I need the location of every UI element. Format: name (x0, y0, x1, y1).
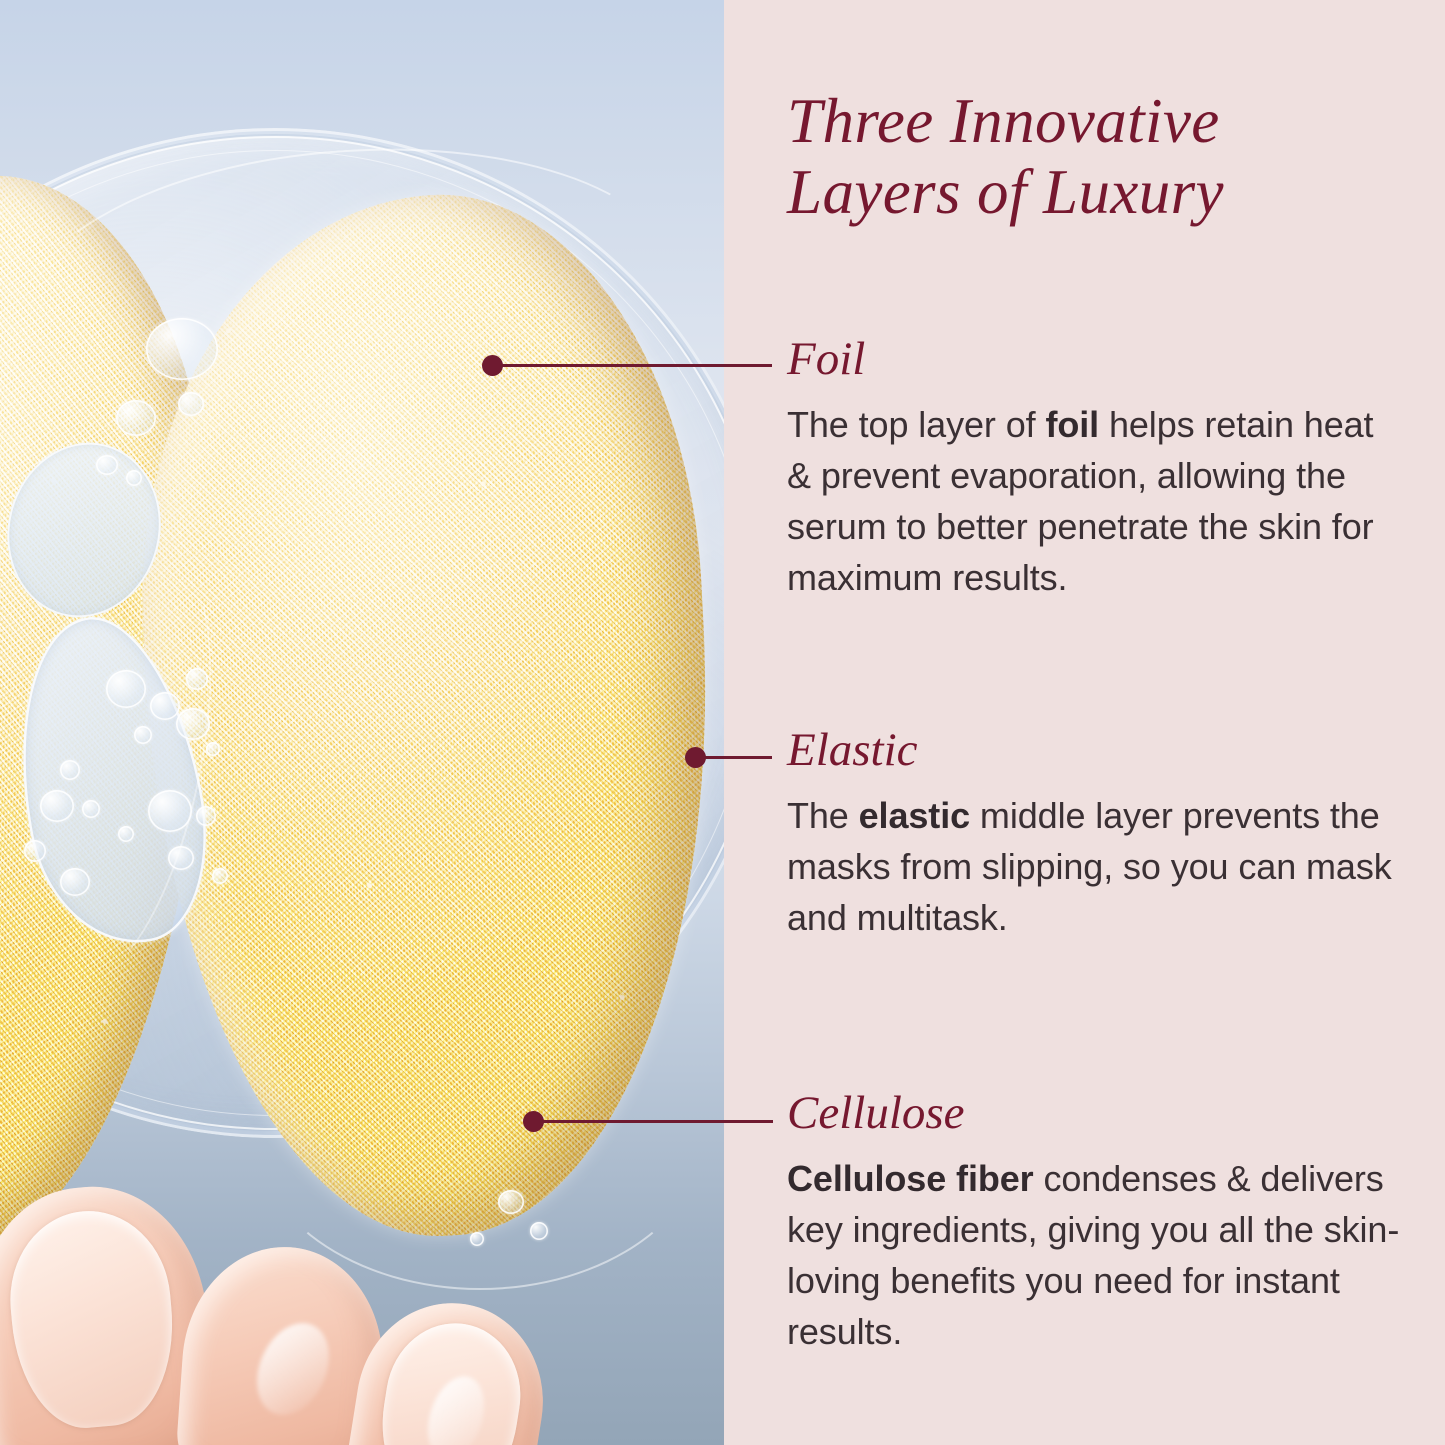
section-body-elastic: The elastic middle layer prevents the ma… (787, 790, 1407, 943)
callout-line-elastic (700, 756, 772, 759)
serum-bubble (212, 868, 228, 884)
photo-composite (0, 0, 724, 1445)
body-emphasis: foil (1045, 404, 1099, 445)
section-elastic: Elastic The elastic middle layer prevent… (787, 727, 1407, 943)
serum-bubble (96, 455, 118, 475)
section-heading-foil: Foil (787, 336, 1407, 383)
body-prefix: The top layer of (787, 404, 1045, 445)
section-foil: Foil The top layer of foil helps retain … (787, 336, 1407, 603)
section-heading-elastic: Elastic (787, 727, 1407, 774)
infographic-poster: Three Innovative Layers of Luxury Foil T… (0, 0, 1445, 1445)
page-title: Three Innovative Layers of Luxury (787, 86, 1397, 228)
callout-line-foil (500, 364, 772, 367)
callout-dot-foil (482, 355, 503, 376)
callout-dot-cellulose (523, 1111, 544, 1132)
serum-bubble (126, 470, 142, 486)
section-body-foil: The top layer of foil helps retain heat … (787, 399, 1407, 603)
serum-bubble (196, 806, 216, 826)
hand-holding-mask (0, 1125, 520, 1445)
body-emphasis: Cellulose fiber (787, 1158, 1034, 1199)
serum-bubble (24, 840, 46, 862)
serum-bubble (206, 742, 220, 756)
text-panel: Three Innovative Layers of Luxury Foil T… (724, 0, 1445, 1445)
callout-dot-elastic (685, 747, 706, 768)
section-body-cellulose: Cellulose fiber condenses & delivers key… (787, 1153, 1407, 1357)
body-prefix: The (787, 795, 859, 836)
body-emphasis: elastic (859, 795, 970, 836)
section-cellulose: Cellulose Cellulose fiber condenses & de… (787, 1090, 1407, 1357)
product-photo (0, 0, 724, 1445)
section-heading-cellulose: Cellulose (787, 1090, 1407, 1137)
callout-line-cellulose (541, 1120, 773, 1123)
